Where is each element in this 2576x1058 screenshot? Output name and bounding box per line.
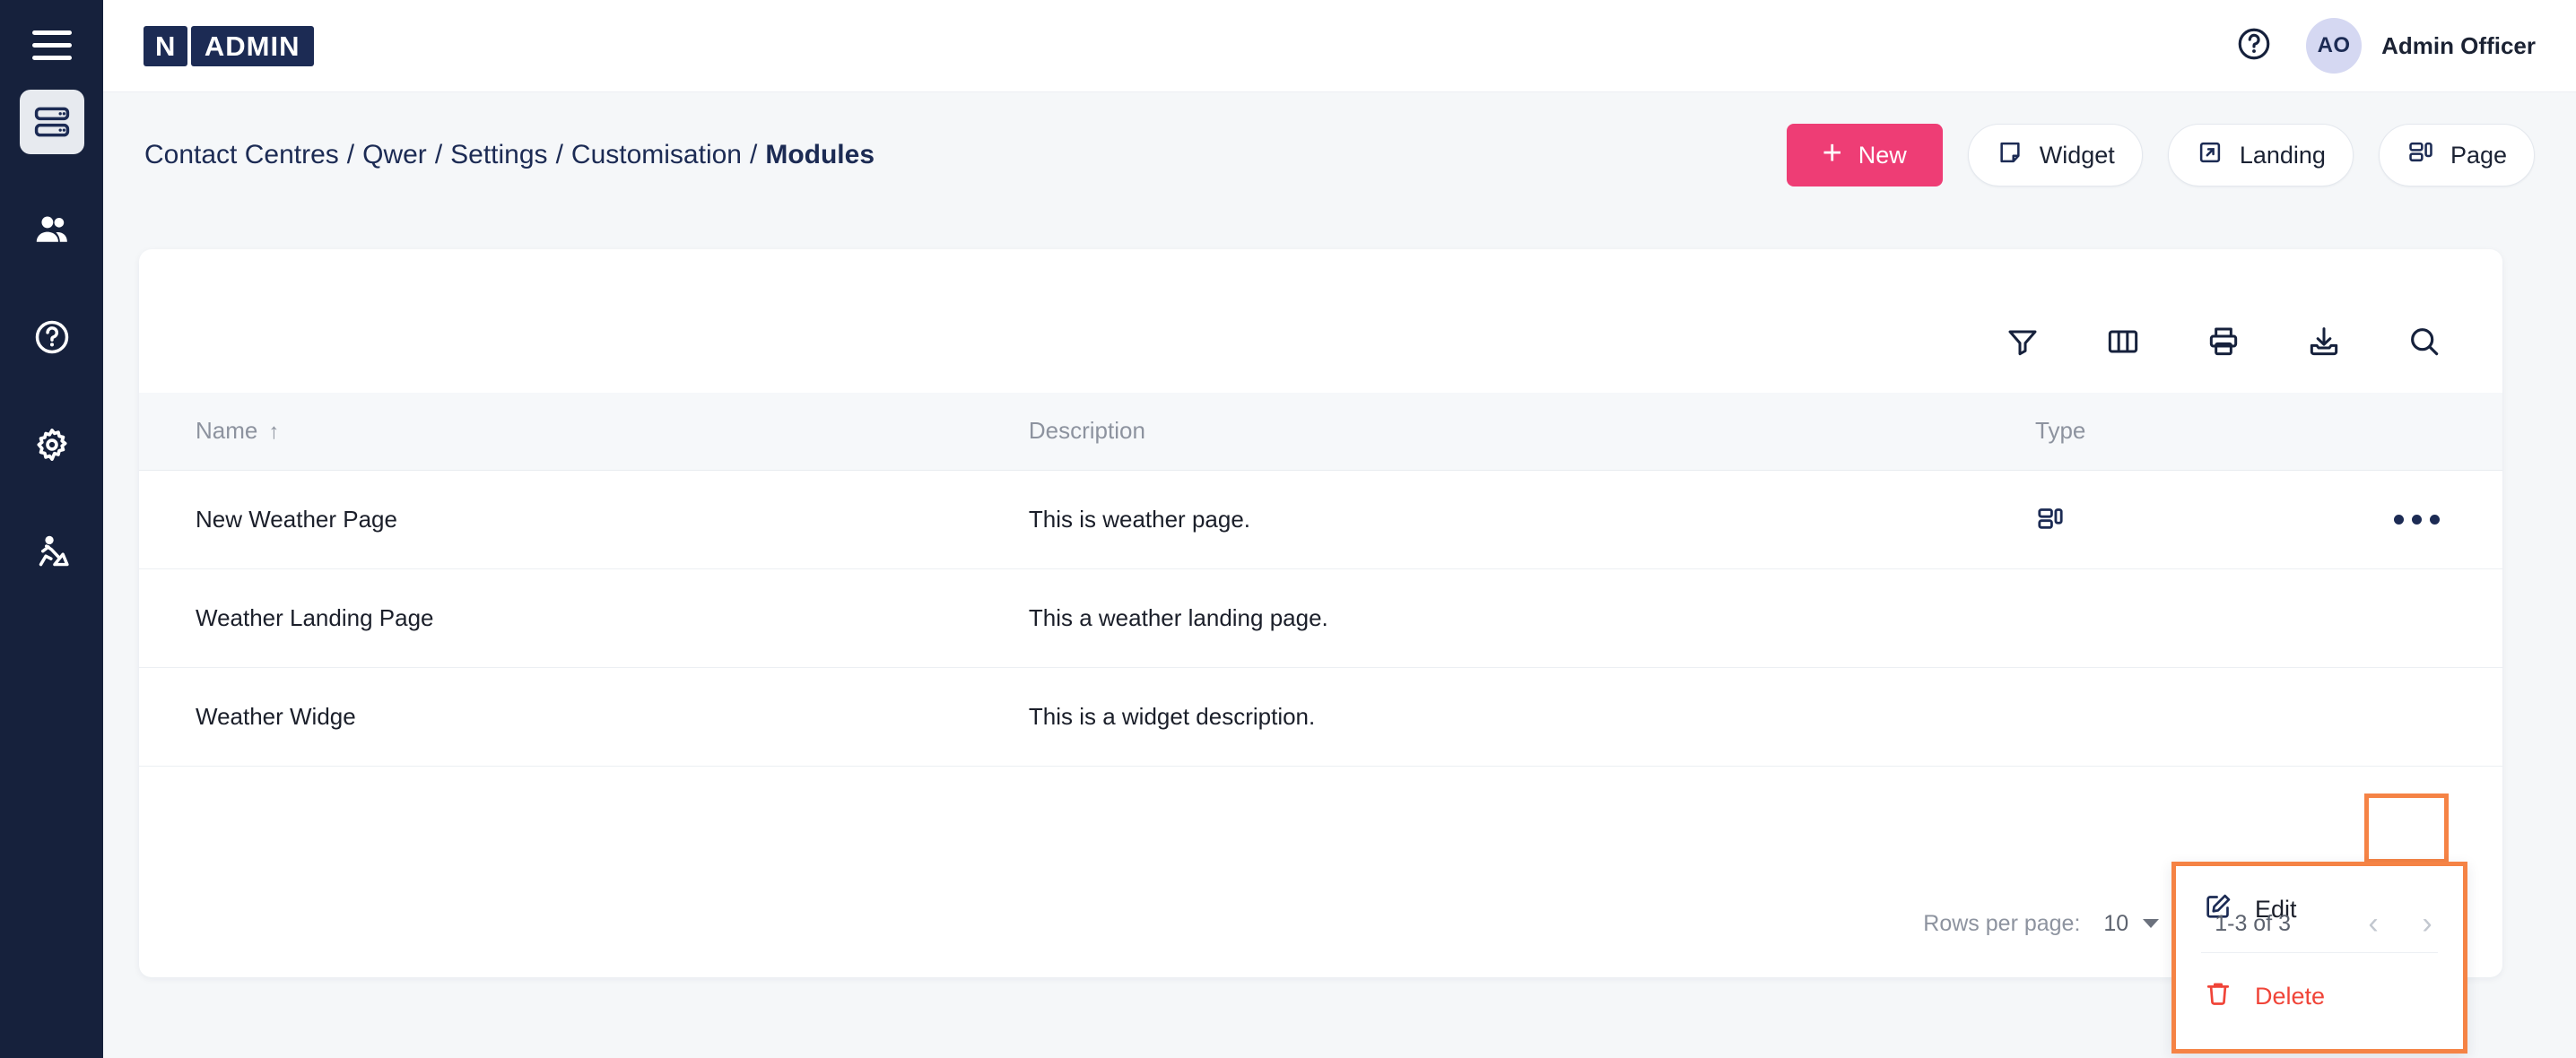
topbar-right-group: AO Admin Officer xyxy=(2232,18,2536,74)
column-header-description[interactable]: Description xyxy=(1029,393,2035,470)
search-button[interactable] xyxy=(2402,321,2447,366)
breadcrumb-item-2[interactable]: Settings xyxy=(450,140,547,169)
modules-table: Name↑ Description Type New Weather Page … xyxy=(139,393,2502,767)
sidebar-item-contacts[interactable] xyxy=(20,197,84,262)
table-header-row: Name↑ Description Type xyxy=(139,393,2502,470)
new-button[interactable]: + New xyxy=(1787,124,1943,186)
table-row[interactable]: New Weather Page This is weather page. xyxy=(139,470,2502,568)
breadcrumb-sep: / xyxy=(435,140,442,169)
chevron-right-icon: › xyxy=(2422,908,2432,939)
hamburger-menu-button[interactable] xyxy=(0,0,103,90)
sidebar-item-modules[interactable] xyxy=(20,90,84,154)
download-button[interactable] xyxy=(2302,321,2346,366)
table-row[interactable]: Weather Landing Page This a weather land… xyxy=(139,568,2502,667)
cell-type xyxy=(2035,667,2332,766)
table-toolbar xyxy=(139,294,2502,393)
sidebar-item-settings[interactable] xyxy=(20,412,84,477)
column-header-actions xyxy=(2332,393,2502,470)
cell-name: New Weather Page xyxy=(139,470,1029,568)
help-button[interactable] xyxy=(2232,24,2276,67)
work-in-progress-icon xyxy=(32,533,72,572)
filter-icon xyxy=(2005,324,2041,364)
table-head: Name↑ Description Type xyxy=(139,393,2502,470)
pagination: Rows per page: 10 1-3 of 3 ‹ › xyxy=(139,870,2502,977)
column-header-type[interactable]: Type xyxy=(2035,393,2332,470)
sidebar-item-maintenance[interactable] xyxy=(20,520,84,585)
trash-icon xyxy=(2203,978,2233,1015)
logo-text: ADMIN xyxy=(191,26,314,66)
print-icon xyxy=(2206,324,2241,364)
modules-card: Name↑ Description Type New Weather Page … xyxy=(139,249,2502,977)
rows-per-page-value: 10 xyxy=(2103,911,2128,937)
left-sidebar xyxy=(0,0,103,1058)
table-body: New Weather Page This is weather page. xyxy=(139,470,2502,766)
gear-icon xyxy=(32,425,72,464)
sidebar-item-help[interactable] xyxy=(20,305,84,369)
cell-name: Weather Widge xyxy=(139,667,1029,766)
cell-actions xyxy=(2332,470,2502,568)
cell-actions xyxy=(2332,568,2502,667)
rows-per-page-select[interactable]: 10 xyxy=(2103,911,2159,937)
kebab-highlight-box xyxy=(2364,793,2449,863)
cell-name: Weather Landing Page xyxy=(139,568,1029,667)
cell-description: This is weather page. xyxy=(1029,470,2035,568)
app-logo[interactable]: N ADMIN xyxy=(144,23,314,68)
app-root: N ADMIN AO Admin Officer Contact Ce xyxy=(0,0,2576,1058)
rows-per-page-label: Rows per page: xyxy=(1923,911,2080,937)
avatar: AO xyxy=(2306,18,2362,74)
page-header: Contact Centres/Qwer/Settings/Customisat… xyxy=(103,92,2576,218)
logo-mark: N xyxy=(144,26,187,66)
columns-button[interactable] xyxy=(2101,321,2145,366)
breadcrumb: Contact Centres/Qwer/Settings/Customisat… xyxy=(144,140,875,170)
chevron-down-icon xyxy=(2143,919,2159,928)
server-icon xyxy=(32,102,72,142)
cell-type xyxy=(2035,470,2332,568)
breadcrumb-sep: / xyxy=(750,140,757,169)
chevron-left-icon: ‹ xyxy=(2368,908,2378,939)
breadcrumb-current: Modules xyxy=(765,140,875,169)
search-icon xyxy=(2406,324,2442,364)
breadcrumb-sep: / xyxy=(556,140,563,169)
user-name: Admin Officer xyxy=(2381,32,2536,60)
create-landing-button[interactable]: Landing xyxy=(2168,124,2354,186)
new-button-label: New xyxy=(1858,142,1907,169)
help-circle-icon xyxy=(32,317,72,357)
create-page-label: Page xyxy=(2450,142,2507,169)
sticky-note-icon xyxy=(1996,138,2024,173)
hamburger-icon xyxy=(32,30,72,60)
top-bar: N ADMIN AO Admin Officer xyxy=(103,0,2576,92)
cell-description: This is a widget description. xyxy=(1029,667,2035,766)
create-page-button[interactable]: Page xyxy=(2379,124,2535,186)
create-widget-button[interactable]: Widget xyxy=(1968,124,2143,186)
plus-icon: + xyxy=(1823,136,1842,170)
cell-actions xyxy=(2332,667,2502,766)
filter-button[interactable] xyxy=(2000,321,2045,366)
menu-item-delete-label: Delete xyxy=(2255,983,2325,1010)
breadcrumb-item-1[interactable]: Qwer xyxy=(362,140,427,169)
user-menu[interactable]: AO Admin Officer xyxy=(2306,18,2536,74)
sort-ascending-icon: ↑ xyxy=(268,420,279,444)
breadcrumb-item-3[interactable]: Customisation xyxy=(571,140,742,169)
breadcrumb-item-0[interactable]: Contact Centres xyxy=(144,140,339,169)
column-header-name[interactable]: Name↑ xyxy=(139,393,1029,470)
help-circle-icon xyxy=(2235,25,2273,67)
users-icon xyxy=(32,210,72,249)
cell-type xyxy=(2035,568,2332,667)
create-landing-label: Landing xyxy=(2240,142,2326,169)
columns-icon xyxy=(2105,324,2141,364)
page-layout-icon xyxy=(2406,138,2435,173)
cell-description: This a weather landing page. xyxy=(1029,568,2035,667)
table-row[interactable]: Weather Widge This is a widget descripti… xyxy=(139,667,2502,766)
page-actions: + New Widget Landing xyxy=(1787,124,2535,186)
kebab-menu-icon[interactable] xyxy=(2376,492,2459,546)
breadcrumb-sep: / xyxy=(347,140,354,169)
page-layout-icon xyxy=(2035,504,2332,534)
print-button[interactable] xyxy=(2201,321,2246,366)
next-page-button[interactable]: › xyxy=(2400,897,2454,950)
pagination-range: 1-3 of 3 xyxy=(2215,911,2291,937)
download-icon xyxy=(2306,324,2342,364)
external-link-icon xyxy=(2196,138,2224,173)
previous-page-button[interactable]: ‹ xyxy=(2346,897,2400,950)
create-widget-label: Widget xyxy=(2040,142,2115,169)
column-label-name: Name xyxy=(196,417,257,444)
